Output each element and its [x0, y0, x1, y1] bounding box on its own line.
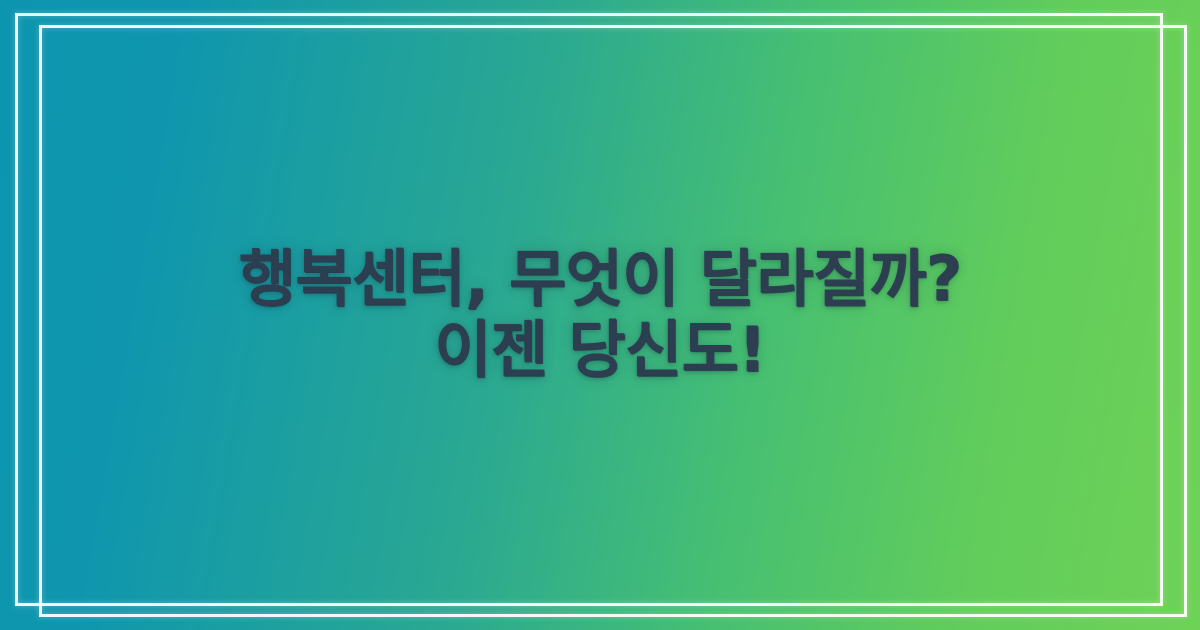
banner-headline: 행복센터, 무엇이 달라질까? 이젠 당신도!	[220, 244, 980, 385]
headline-container: 행복센터, 무엇이 달라질까? 이젠 당신도!	[0, 0, 1200, 630]
banner-card: 행복센터, 무엇이 달라질까? 이젠 당신도!	[0, 0, 1200, 630]
